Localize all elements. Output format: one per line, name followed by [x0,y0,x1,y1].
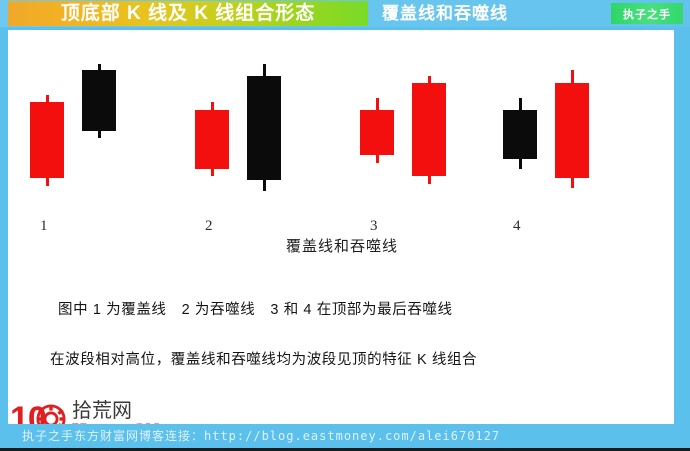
candle [82,30,116,220]
candle-body [555,83,589,178]
candle-body [195,110,229,169]
candle [247,30,281,220]
footer-url-text: 执子之手东方财富网博客连接：http://blog.eastmoney.com/… [22,427,500,444]
candle [195,30,229,220]
brand-badge: 执子之手 [611,3,683,24]
candle-body [82,70,116,131]
candle [503,30,537,220]
candle-pattern-1 [30,30,140,220]
candle-body [503,110,537,159]
pattern-label-1: 1 [40,218,48,235]
candle-body [247,76,281,181]
header-subtitle: 覆盖线和吞噬线 [382,3,508,24]
page-title: 顶底部 K 线及 K 线组合形态 [61,4,316,23]
note-line-1: 图中 1 为覆盖线 2 为吞噬线 3 和 4 在顶部为最后吞噬线 [58,298,453,319]
slide-canvas: 顶底部 K 线及 K 线组合形态 覆盖线和吞噬线 执子之手 1234 覆盖线和吞… [0,0,690,451]
candle [555,30,589,220]
pattern-label-4: 4 [513,218,521,235]
candle-pattern-3 [360,30,470,220]
content-panel: 1234 覆盖线和吞噬线 图中 1 为覆盖线 2 为吞噬线 3 和 4 在顶部为… [8,30,674,424]
chart-caption-text: 覆盖线和吞噬线 [284,238,398,255]
candle-body [360,110,394,156]
candle-pattern-4 [503,30,613,220]
pattern-label-3: 3 [370,218,378,235]
candle [30,30,64,220]
candle-pattern-2 [195,30,305,220]
title-plate: 顶底部 K 线及 K 线组合形态 [8,1,368,26]
candle [412,30,446,220]
pattern-label-2: 2 [205,218,213,235]
header-bar: 顶底部 K 线及 K 线组合形态 覆盖线和吞噬线 执子之手 [0,0,690,27]
candle-body [30,102,64,178]
candle [360,30,394,220]
note-line-2: 在波段相对高位，覆盖线和吞噬线均为波段见顶的特征 K 线组合 [50,348,477,369]
candle-body [412,83,446,176]
chart-caption: 覆盖线和吞噬线 [8,235,674,256]
footer-strip: 执子之手东方财富网博客连接：http://blog.eastmoney.com/… [0,424,690,448]
candlestick-diagram [8,30,674,220]
brand-badge-label: 执子之手 [623,6,671,22]
logo-cn-name: 拾荒网 [72,400,132,422]
